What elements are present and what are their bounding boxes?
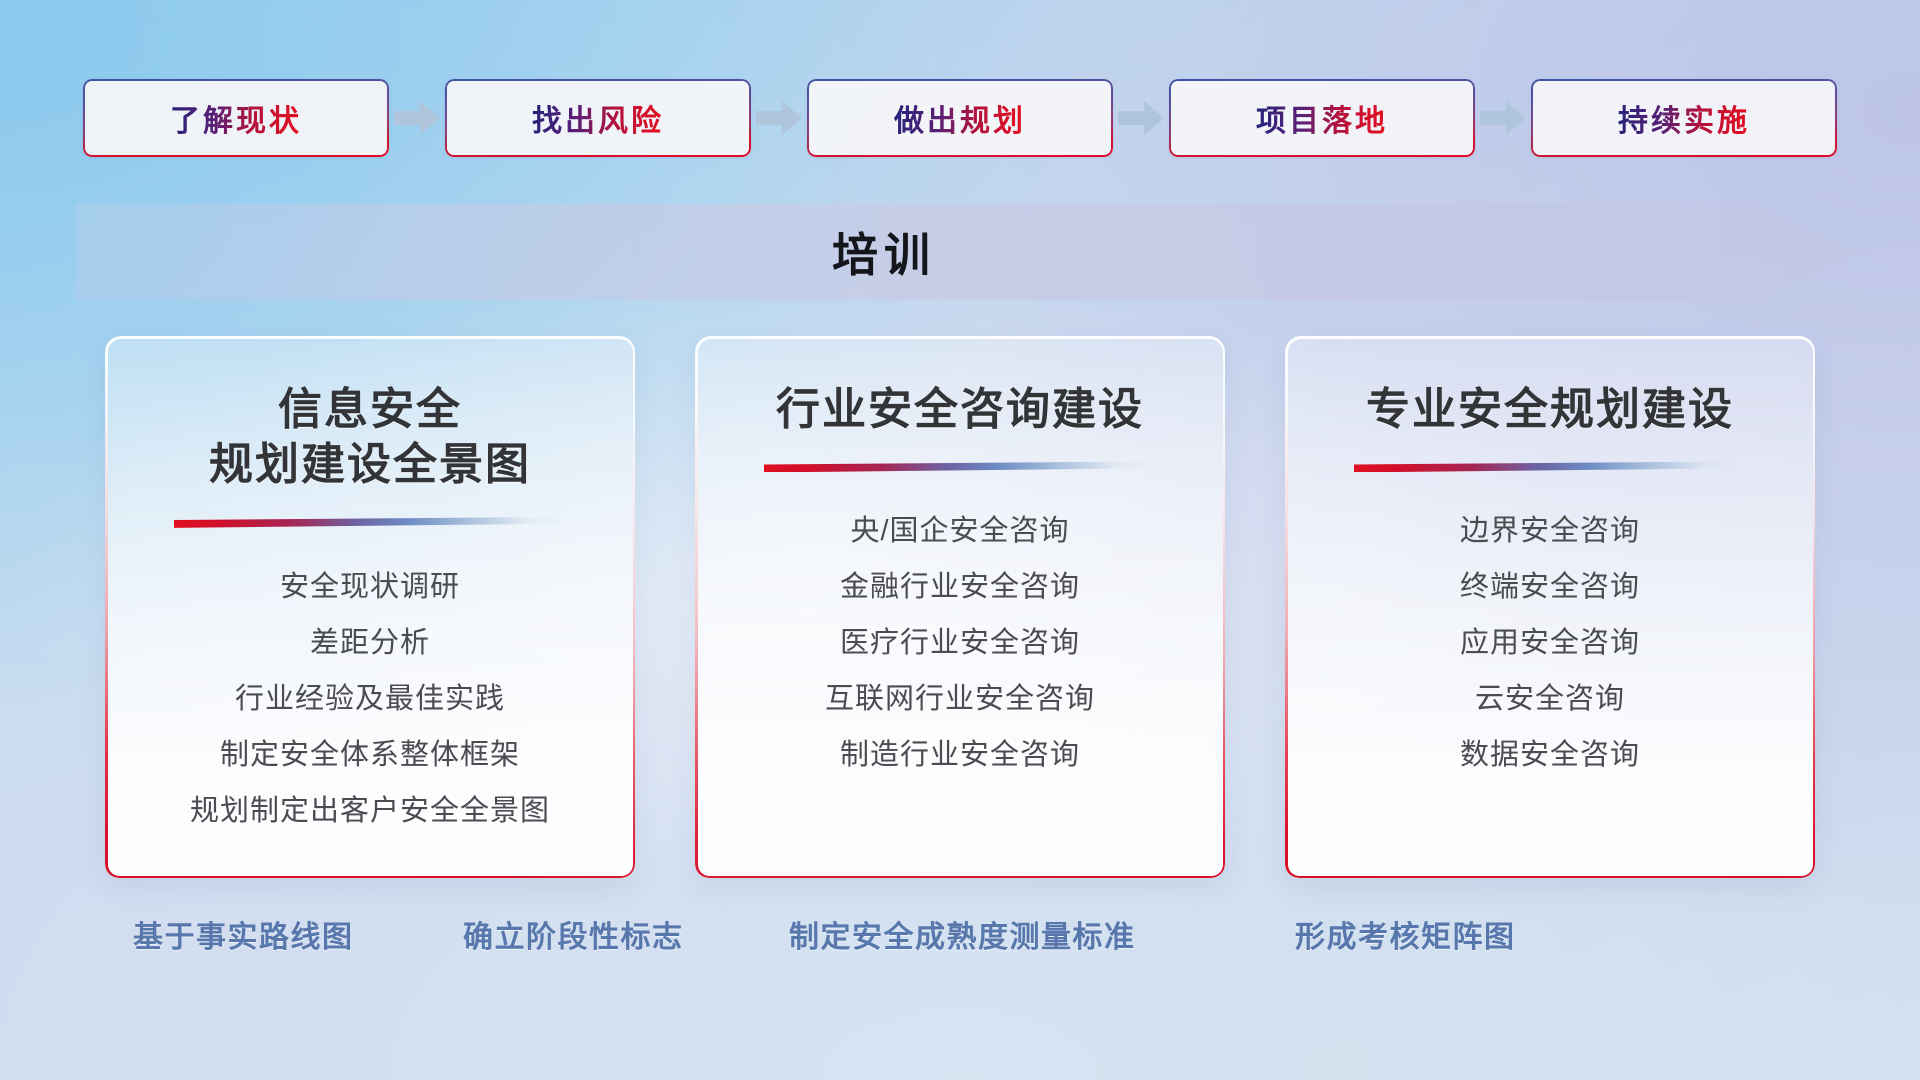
caption-row: 基于事实路线图 确立阶段性标志 制定安全成熟度测量标准 形成考核矩阵图: [0, 912, 1920, 972]
list-item: 应用安全咨询: [1460, 618, 1640, 668]
process-step-label: 持续实施: [1618, 96, 1750, 140]
list-item: 数据安全咨询: [1460, 730, 1640, 780]
card-2[interactable]: 专业安全规划建设 边界安全咨询 终端安全咨询 应用安全咨询 云安全咨询 数据安全…: [1285, 336, 1815, 878]
training-banner: 培训: [76, 204, 1862, 300]
right-arrow-icon: [751, 79, 807, 157]
card-row: 信息安全 规划建设全景图 安全现状调研 差距分析 行业经验及最佳实践 制定安全体…: [0, 336, 1920, 878]
list-item: 差距分析: [310, 618, 430, 668]
list-item: 制定安全体系整体框架: [220, 730, 520, 780]
card-0[interactable]: 信息安全 规划建设全景图 安全现状调研 差距分析 行业经验及最佳实践 制定安全体…: [105, 336, 635, 878]
process-step-label: 项目落地: [1256, 96, 1388, 140]
card-1-title: 行业安全咨询建设: [776, 382, 1144, 437]
card-2-body: 专业安全规划建设 边界安全咨询 终端安全咨询 应用安全咨询 云安全咨询 数据安全…: [1285, 336, 1815, 878]
banner-title: 培训: [76, 204, 1862, 300]
list-item: 央/国企安全咨询: [850, 506, 1069, 556]
card-title-line: 规划建设全景图: [209, 437, 531, 492]
list-item: 金融行业安全咨询: [840, 562, 1080, 612]
card-0-body: 信息安全 规划建设全景图 安全现状调研 差距分析 行业经验及最佳实践 制定安全体…: [105, 336, 635, 878]
process-step-label: 做出规划: [894, 96, 1026, 140]
process-step-1[interactable]: 找出风险: [445, 79, 751, 157]
card-title-line: 行业安全咨询建设: [776, 382, 1144, 437]
process-step-label: 找出风险: [532, 96, 664, 140]
caption-2: 制定安全成熟度测量标准: [789, 912, 1136, 956]
process-step-row: 了解现状 找出风险 做出规划 项目落地: [0, 76, 1920, 160]
list-item: 安全现状调研: [280, 562, 460, 612]
list-item: 规划制定出客户安全全景图: [190, 786, 550, 836]
list-item: 制造行业安全咨询: [840, 730, 1080, 780]
list-item: 互联网行业安全咨询: [825, 674, 1095, 724]
card-0-divider: [174, 517, 566, 528]
list-item: 终端安全咨询: [1460, 562, 1640, 612]
card-1-list: 央/国企安全咨询 金融行业安全咨询 医疗行业安全咨询 互联网行业安全咨询 制造行…: [825, 506, 1095, 780]
right-arrow-icon: [1113, 79, 1169, 157]
card-2-divider: [1354, 461, 1746, 472]
caption-1: 确立阶段性标志: [463, 912, 684, 956]
right-arrow-icon: [1475, 79, 1531, 157]
process-step-0[interactable]: 了解现状: [83, 79, 389, 157]
card-title-line: 专业安全规划建设: [1366, 382, 1734, 437]
slide-canvas: 了解现状 找出风险 做出规划 项目落地: [0, 0, 1920, 1080]
process-step-3[interactable]: 项目落地: [1169, 79, 1475, 157]
process-step-2[interactable]: 做出规划: [807, 79, 1113, 157]
list-item: 边界安全咨询: [1460, 506, 1640, 556]
card-2-list: 边界安全咨询 终端安全咨询 应用安全咨询 云安全咨询 数据安全咨询: [1460, 506, 1640, 780]
card-0-list: 安全现状调研 差距分析 行业经验及最佳实践 制定安全体系整体框架 规划制定出客户…: [190, 562, 550, 836]
right-arrow-icon: [389, 79, 445, 157]
card-title-line: 信息安全: [209, 382, 531, 437]
list-item: 行业经验及最佳实践: [235, 674, 505, 724]
list-item: 云安全咨询: [1475, 674, 1625, 724]
card-0-title: 信息安全 规划建设全景图: [209, 382, 531, 493]
process-step-4[interactable]: 持续实施: [1531, 79, 1837, 157]
caption-3: 形成考核矩阵图: [1295, 912, 1516, 956]
card-1-body: 行业安全咨询建设 央/国企安全咨询 金融行业安全咨询 医疗行业安全咨询 互联网行…: [695, 336, 1225, 878]
process-step-label: 了解现状: [170, 96, 302, 140]
card-1[interactable]: 行业安全咨询建设 央/国企安全咨询 金融行业安全咨询 医疗行业安全咨询 互联网行…: [695, 336, 1225, 878]
caption-0: 基于事实路线图: [133, 912, 354, 956]
card-2-title: 专业安全规划建设: [1366, 382, 1734, 437]
card-1-divider: [764, 461, 1156, 472]
list-item: 医疗行业安全咨询: [840, 618, 1080, 668]
